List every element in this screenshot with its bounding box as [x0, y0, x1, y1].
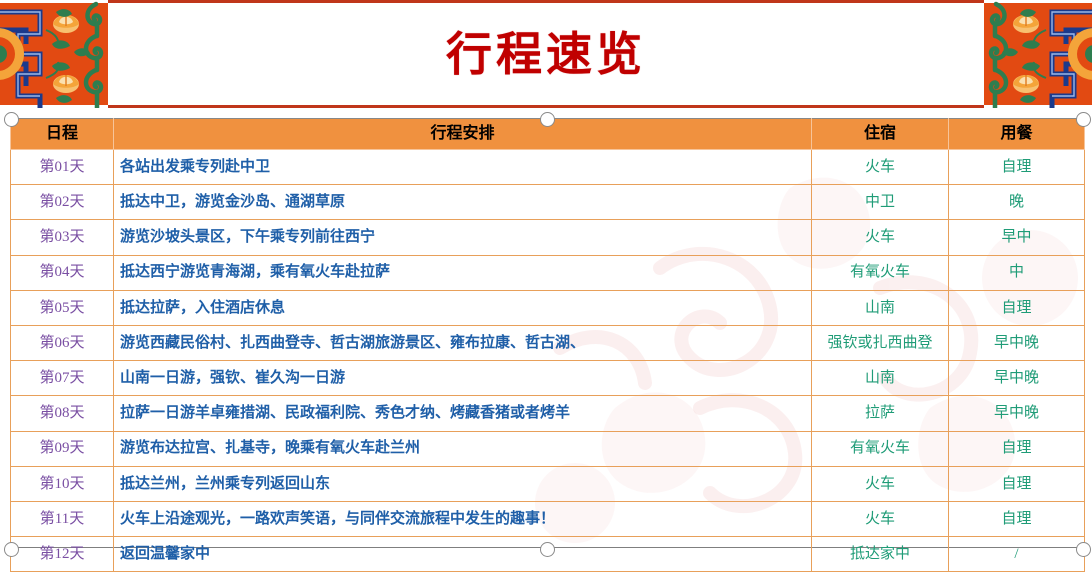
cell-meal: 自理	[949, 150, 1085, 185]
cell-meal: 中	[949, 255, 1085, 290]
cell-day: 第06天	[11, 325, 114, 360]
cell-plan: 抵达西宁游览青海湖，乘有氧火车赴拉萨	[114, 255, 812, 290]
cell-day: 第10天	[11, 466, 114, 501]
cell-meal: 早中晚	[949, 361, 1085, 396]
tibetan-ornament-left-icon	[0, 0, 108, 108]
selection-handle-top-right[interactable]	[1076, 112, 1091, 127]
cell-stay: 抵达家中	[812, 537, 949, 572]
cell-plan: 抵达拉萨，入住酒店休息	[114, 290, 812, 325]
title-banner: 行程速览	[0, 0, 1092, 108]
cell-meal: 自理	[949, 290, 1085, 325]
cell-meal: 晚	[949, 185, 1085, 220]
cell-day: 第01天	[11, 150, 114, 185]
cell-plan: 火车上沿途观光，一路欢声笑语，与同伴交流旅程中发生的趣事！	[114, 501, 812, 536]
cell-day: 第03天	[11, 220, 114, 255]
table-row[interactable]: 第01天 各站出发乘专列赴中卫 火车 自理	[11, 150, 1085, 185]
cell-meal: 自理	[949, 466, 1085, 501]
tibetan-ornament-right-icon	[984, 0, 1092, 108]
cell-day: 第09天	[11, 431, 114, 466]
cell-plan: 拉萨一日游羊卓雍措湖、民政福利院、秀色才纳、烤藏香猪或者烤羊	[114, 396, 812, 431]
cell-stay: 有氧火车	[812, 255, 949, 290]
cell-day: 第04天	[11, 255, 114, 290]
cell-day: 第05天	[11, 290, 114, 325]
table-row[interactable]: 第08天 拉萨一日游羊卓雍措湖、民政福利院、秀色才纳、烤藏香猪或者烤羊 拉萨 早…	[11, 396, 1085, 431]
cell-stay: 有氧火车	[812, 431, 949, 466]
slide-canvas: 行程速览	[0, 0, 1092, 560]
table-row[interactable]: 第02天 抵达中卫，游览金沙岛、通湖草原 中卫 晚	[11, 185, 1085, 220]
cell-plan: 山南一日游，强钦、崔久沟一日游	[114, 361, 812, 396]
cell-day: 第07天	[11, 361, 114, 396]
cell-plan: 抵达兰州，兰州乘专列返回山东	[114, 466, 812, 501]
cell-plan: 游览西藏民俗村、扎西曲登寺、哲古湖旅游景区、雍布拉康、哲古湖、	[114, 325, 812, 360]
cell-stay: 中卫	[812, 185, 949, 220]
cell-stay: 火车	[812, 150, 949, 185]
cell-meal: 早中	[949, 220, 1085, 255]
cell-stay: 拉萨	[812, 396, 949, 431]
cell-stay: 火车	[812, 501, 949, 536]
cell-day: 第08天	[11, 396, 114, 431]
table-row[interactable]: 第05天 抵达拉萨，入住酒店休息 山南 自理	[11, 290, 1085, 325]
selection-handle-top-center[interactable]	[540, 112, 555, 127]
cell-meal: 早中晚	[949, 396, 1085, 431]
banner-center-plate: 行程速览	[108, 0, 984, 108]
cell-meal: 早中晚	[949, 325, 1085, 360]
cell-stay: 强钦或扎西曲登	[812, 325, 949, 360]
table-row[interactable]: 第10天 抵达兰州，兰州乘专列返回山东 火车 自理	[11, 466, 1085, 501]
cell-stay: 火车	[812, 220, 949, 255]
table-row[interactable]: 第06天 游览西藏民俗村、扎西曲登寺、哲古湖旅游景区、雍布拉康、哲古湖、 强钦或…	[11, 325, 1085, 360]
cell-plan: 游览布达拉宫、扎基寺，晚乘有氧火车赴兰州	[114, 431, 812, 466]
table-row[interactable]: 第04天 抵达西宁游览青海湖，乘有氧火车赴拉萨 有氧火车 中	[11, 255, 1085, 290]
cell-meal: /	[949, 537, 1085, 572]
cell-plan: 返回温馨家中	[114, 537, 812, 572]
itinerary-table[interactable]: 日程 行程安排 住宿 用餐 第01天 各站出发乘专列赴中卫 火车 自理 第02天…	[10, 118, 1085, 572]
itinerary-table-wrapper: 日程 行程安排 住宿 用餐 第01天 各站出发乘专列赴中卫 火车 自理 第02天…	[10, 118, 1084, 572]
selection-handle-bottom-right[interactable]	[1076, 542, 1091, 557]
column-header-meal[interactable]: 用餐	[949, 119, 1085, 150]
table-row[interactable]: 第03天 游览沙坡头景区，下午乘专列前往西宁 火车 早中	[11, 220, 1085, 255]
cell-stay: 山南	[812, 361, 949, 396]
cell-day: 第02天	[11, 185, 114, 220]
cell-plan: 各站出发乘专列赴中卫	[114, 150, 812, 185]
cell-plan: 抵达中卫，游览金沙岛、通湖草原	[114, 185, 812, 220]
itinerary-table-body: 第01天 各站出发乘专列赴中卫 火车 自理 第02天 抵达中卫，游览金沙岛、通湖…	[11, 150, 1085, 572]
table-row[interactable]: 第11天 火车上沿途观光，一路欢声笑语，与同伴交流旅程中发生的趣事！ 火车 自理	[11, 501, 1085, 536]
column-header-stay[interactable]: 住宿	[812, 119, 949, 150]
column-header-day[interactable]: 日程	[11, 119, 114, 150]
table-row[interactable]: 第07天 山南一日游，强钦、崔久沟一日游 山南 早中晚	[11, 361, 1085, 396]
page-title: 行程速览	[446, 31, 646, 77]
cell-meal: 自理	[949, 501, 1085, 536]
cell-day: 第11天	[11, 501, 114, 536]
selection-handle-top-left[interactable]	[4, 112, 19, 127]
column-header-plan[interactable]: 行程安排	[114, 119, 812, 150]
selection-handle-bottom-center[interactable]	[540, 542, 555, 557]
cell-stay: 火车	[812, 466, 949, 501]
cell-plan: 游览沙坡头景区，下午乘专列前往西宁	[114, 220, 812, 255]
selection-handle-bottom-left[interactable]	[4, 542, 19, 557]
table-row[interactable]: 第09天 游览布达拉宫、扎基寺，晚乘有氧火车赴兰州 有氧火车 自理	[11, 431, 1085, 466]
cell-stay: 山南	[812, 290, 949, 325]
cell-meal: 自理	[949, 431, 1085, 466]
cell-day: 第12天	[11, 537, 114, 572]
